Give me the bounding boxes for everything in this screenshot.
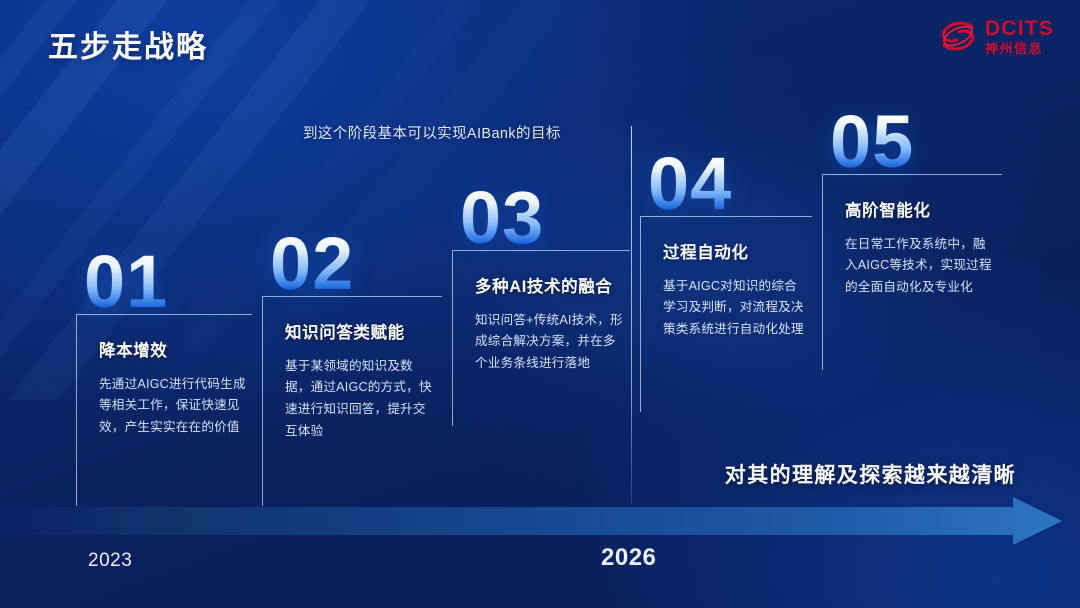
- page-title: 五步走战略: [48, 22, 208, 66]
- step-description: 基于某领域的知识及数据，通过AIGC的方式，快速进行知识回答，提升交互体验: [285, 356, 436, 443]
- step-card-04[interactable]: 04 过程自动化 基于AIGC对知识的综合学习及判断，对流程及决策类系统进行自动…: [640, 152, 812, 412]
- logo-text-cn: 神州信息: [985, 42, 1054, 55]
- step-description: 基于AIGC对知识的综合学习及判断，对流程及决策类系统进行自动化处理: [663, 276, 806, 341]
- step-number: 02: [270, 232, 442, 296]
- phase-separator-line: [631, 126, 632, 504]
- step-description: 先通过AIGC进行代码生成等相关工作，保证快速见效，产生实实在在的价值: [99, 374, 246, 439]
- step-title: 多种AI技术的融合: [475, 273, 624, 297]
- logo-text-en: DCITS: [985, 18, 1054, 39]
- step-title: 过程自动化: [663, 239, 806, 263]
- step-card-01[interactable]: 01 降本增效 先通过AIGC进行代码生成等相关工作，保证快速见效，产生实实在在…: [76, 250, 252, 506]
- timeline-year-start: 2023: [88, 550, 132, 572]
- step-number: 03: [460, 186, 630, 250]
- timeline-year-end: 2026: [601, 544, 656, 572]
- step-title: 知识问答类赋能: [285, 319, 436, 343]
- timeline-caption: 对其的理解及探索越来越清晰: [725, 459, 1016, 489]
- step-card-03[interactable]: 03 多种AI技术的融合 知识问答+传统AI技术，形成综合解决方案，并在多个业务…: [452, 186, 630, 426]
- step-content-box: 过程自动化 基于AIGC对知识的综合学习及判断，对流程及决策类系统进行自动化处理: [640, 216, 812, 412]
- dcits-logo: DCITS 神州信息: [938, 16, 1054, 56]
- step-content-box: 知识问答类赋能 基于某领域的知识及数据，通过AIGC的方式，快速进行知识回答，提…: [262, 296, 442, 506]
- step-title: 降本增效: [99, 337, 246, 361]
- step-description: 在日常工作及系统中，融入AIGC等技术，实现过程的全面自动化及专业化: [845, 234, 996, 299]
- step-number: 04: [648, 152, 812, 216]
- step-title: 高阶智能化: [845, 197, 996, 221]
- step-card-05[interactable]: 05 高阶智能化 在日常工作及系统中，融入AIGC等技术，实现过程的全面自动化及…: [822, 110, 1002, 370]
- slide-canvas: 五步走战略 DCITS 神州信息 到这个阶段基本可以实现AIBank的目标 01…: [0, 0, 1080, 608]
- step-number: 01: [84, 250, 252, 314]
- dcits-swirl-icon: [938, 16, 978, 56]
- timeline-arrow: [0, 497, 1080, 545]
- step-content-box: 降本增效 先通过AIGC进行代码生成等相关工作，保证快速见效，产生实实在在的价值: [76, 314, 252, 506]
- step-description: 知识问答+传统AI技术，形成综合解决方案，并在多个业务条线进行落地: [475, 310, 624, 375]
- step-card-02[interactable]: 02 知识问答类赋能 基于某领域的知识及数据，通过AIGC的方式，快速进行知识回…: [262, 232, 442, 506]
- annotation-label: 到这个阶段基本可以实现AIBank的目标: [303, 122, 561, 143]
- step-content-box: 多种AI技术的融合 知识问答+传统AI技术，形成综合解决方案，并在多个业务条线进…: [452, 250, 630, 426]
- step-number: 05: [830, 110, 1002, 174]
- step-content-box: 高阶智能化 在日常工作及系统中，融入AIGC等技术，实现过程的全面自动化及专业化: [822, 174, 1002, 370]
